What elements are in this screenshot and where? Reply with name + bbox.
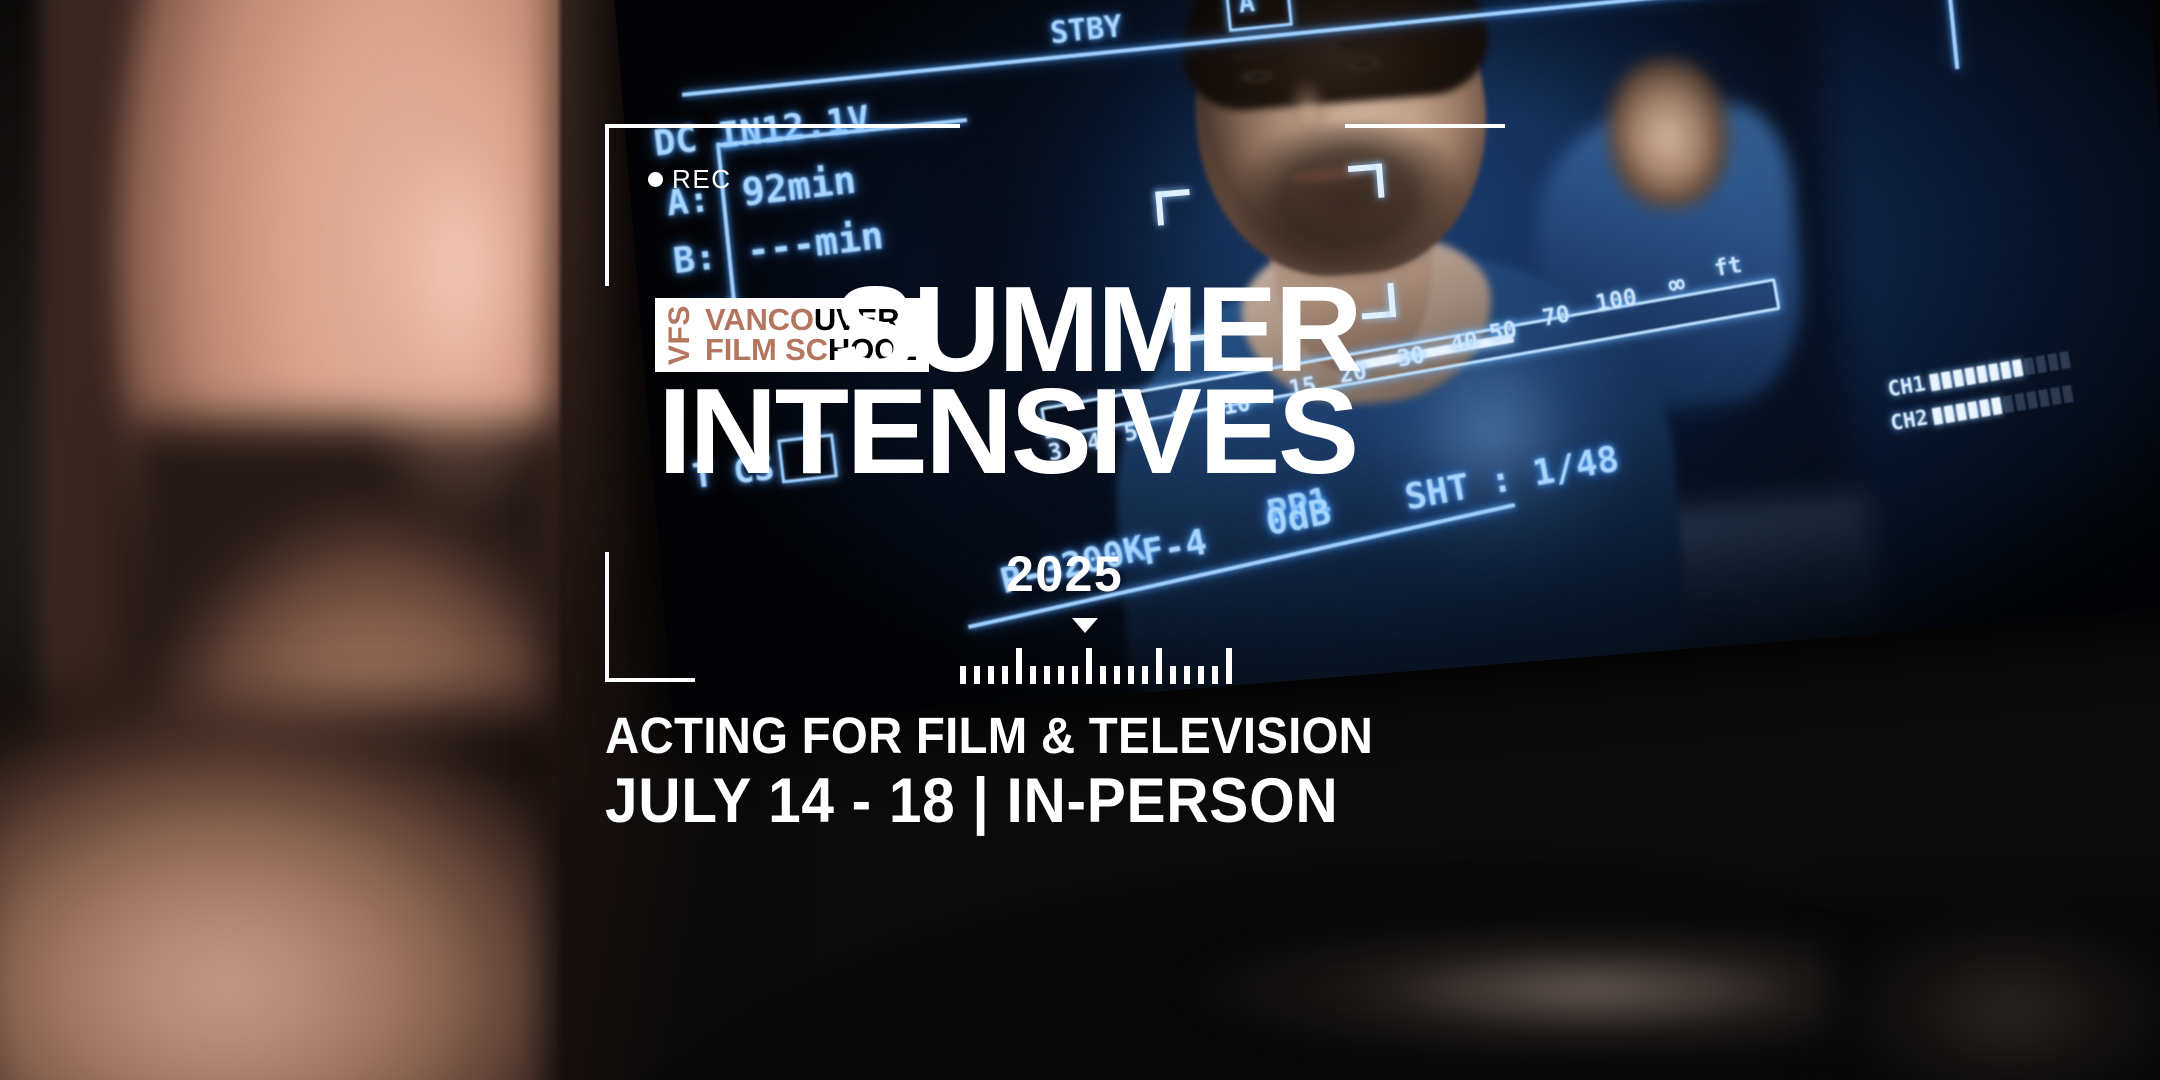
focus-unit-label: ft — [1712, 252, 1744, 282]
corner-bracket-bottom-left — [605, 552, 695, 682]
program-title: ACTING FOR FILM & TELEVISION — [605, 710, 1373, 762]
headline-year: 2025 — [1006, 545, 1123, 603]
focus-tick-30: 30 — [1395, 342, 1427, 372]
focus-bracket-top-right — [1348, 163, 1385, 200]
rec-indicator: REC — [648, 164, 732, 195]
hud-right-tick — [1943, 0, 1959, 69]
poster-canvas: STBY A HQ 1080/24P DC IN12.1V A: 92min B… — [0, 0, 2160, 1080]
program-dates: JULY 14 - 18 | IN-PERSON — [605, 768, 1373, 834]
hud-status-stby: STBY — [1049, 9, 1124, 51]
focus-bracket-bottom-right — [1360, 283, 1397, 320]
audio-ch2-label: CH2 — [1889, 405, 1930, 435]
focus-tick-70: 70 — [1540, 301, 1572, 331]
focus-bracket-top-left — [1155, 189, 1192, 226]
camera-right-shape — [1830, 900, 2160, 1080]
record-dot-icon — [648, 172, 663, 187]
headline-block: SUMMER INTENSIVES — [658, 278, 1360, 483]
audio-ch1-label: CH1 — [1886, 371, 1927, 401]
hud-top-rule — [682, 0, 2075, 97]
background-photo: STBY A HQ 1080/24P DC IN12.1V A: 92min B… — [0, 0, 2160, 1080]
focus-tick-40: 40 — [1448, 328, 1480, 358]
rec-label: REC — [672, 164, 732, 195]
ruler-caret-icon — [1072, 618, 1098, 633]
corner-bracket-top-right — [1345, 124, 1505, 128]
hud-channel-letter: A — [1237, 0, 1256, 20]
hud-channel-box — [1225, 0, 1293, 32]
ruler-scale — [960, 648, 1232, 684]
details-block: ACTING FOR FILM & TELEVISION JULY 14 - 1… — [605, 710, 1431, 834]
headline-line-2: INTENSIVES — [658, 380, 1360, 482]
hud-aperture: F-4 — [1139, 522, 1210, 574]
focus-tick-50: 50 — [1487, 317, 1519, 347]
